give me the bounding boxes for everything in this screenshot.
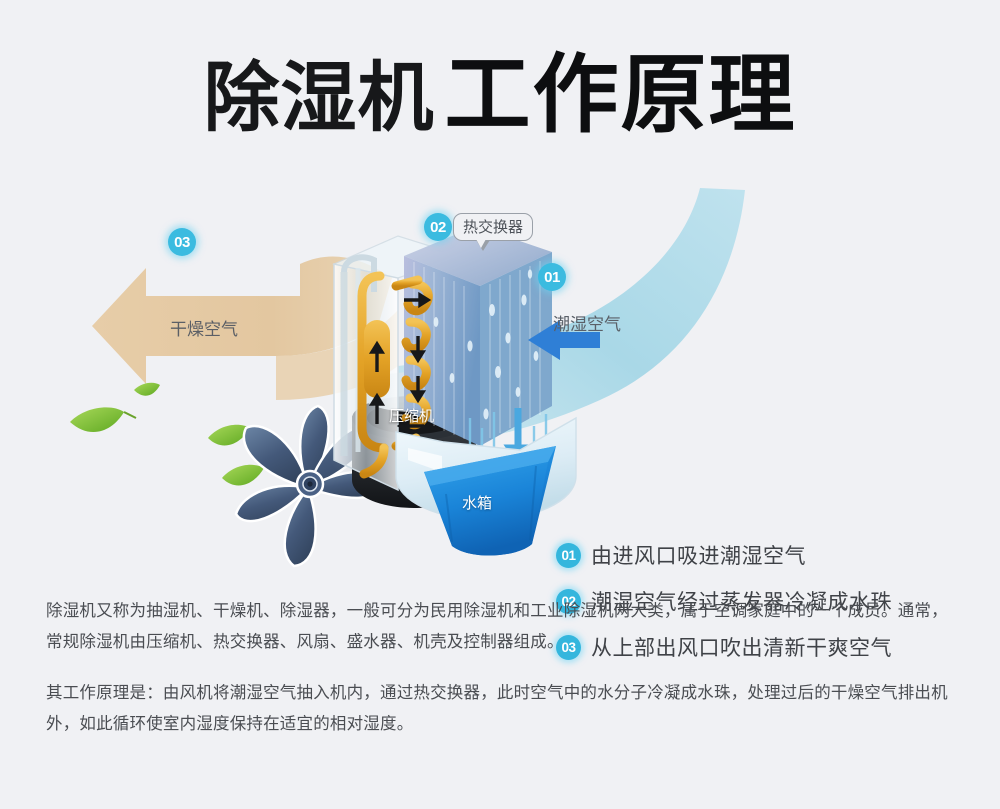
page-title-part2: 工作原理 [445,47,797,143]
diagram-badge-02: 02 [424,213,452,241]
page-root: 除湿机工作原理 [0,0,1000,809]
page-title: 除湿机工作原理 [0,52,1000,138]
page-title-part1: 除湿机 [204,56,435,141]
legend-text-01: 由进风口吸进潮湿空气 [591,540,806,570]
legend-item-01: 01 由进风口吸进潮湿空气 [556,532,976,578]
legend-badge-01: 01 [556,543,581,568]
leaf-icon-group [70,383,264,486]
dry-air-label: 干燥空气 [170,315,238,340]
dehumidifier-diagram: 03 02 01 热交换器 干燥空气 潮湿空气 压缩机 水箱 01 由进风口吸进… [0,160,1000,580]
body-copy: 除湿机又称为抽湿机、干燥机、除湿器，一般可分为民用除湿机和工业除湿机两大类，属于… [46,596,954,740]
heat-exchanger-callout: 热交换器 [453,213,533,241]
paragraph-2: 其工作原理是：由风机将潮湿空气抽入机内，通过热交换器，此时空气中的水分子冷凝成水… [46,678,954,740]
humid-air-label: 潮湿空气 [553,310,621,335]
compressor-label: 压缩机 [389,405,434,426]
paragraph-1: 除湿机又称为抽湿机、干燥机、除湿器，一般可分为民用除湿机和工业除湿机两大类，属于… [46,596,954,658]
diagram-badge-01: 01 [538,263,566,291]
water-tank-label: 水箱 [462,492,492,513]
diagram-badge-03: 03 [168,228,196,256]
